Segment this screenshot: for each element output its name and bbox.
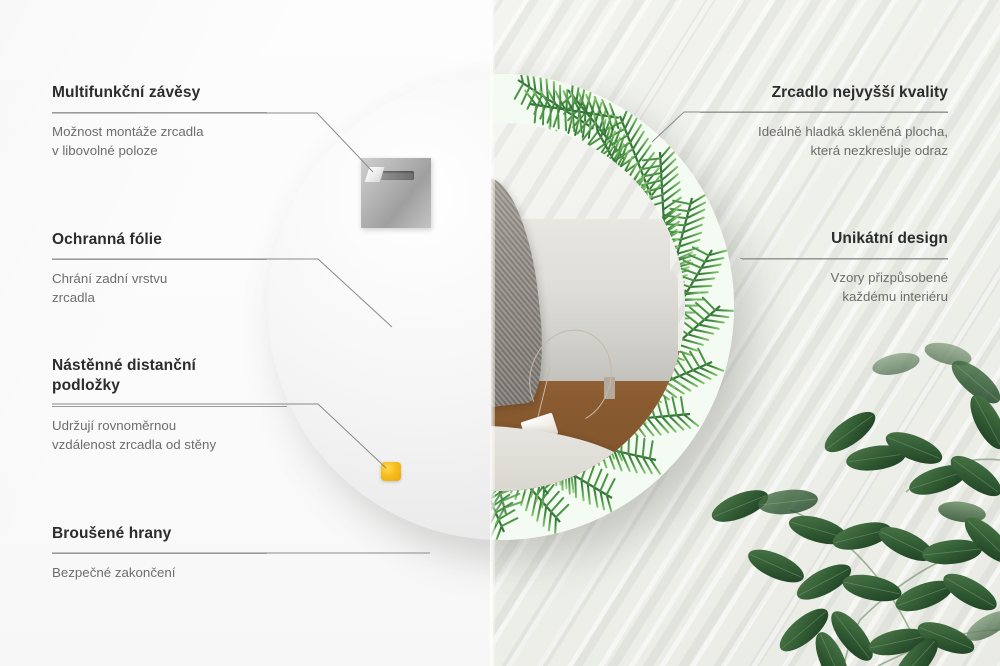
- feature-body-line-1: Udržují rovnoměrnou: [52, 417, 287, 436]
- feature-body-line-2: která nezkresluje odraz: [700, 142, 948, 161]
- hanger-keyhole-slot-icon: [371, 171, 414, 180]
- feature-title: Broušené hrany: [52, 524, 267, 544]
- infographic-canvas: Multifunkční závěsy Možnost montáže zrca…: [0, 0, 1000, 666]
- feature-body-line-2: vzdálenost zrcadla od stěny: [52, 436, 287, 455]
- feature-body-line-1: Ideálně hladká skleněná plocha,: [700, 123, 948, 142]
- product-mirror: [268, 74, 734, 540]
- feature-label-multifunkcni-zavesy: Multifunkční závěsy Možnost montáže zrca…: [52, 83, 267, 161]
- feature-body-line-2: v libovolné poloze: [52, 142, 267, 161]
- feature-title-line-2: podložky: [52, 376, 287, 396]
- feature-label-ochranna-folie: Ochranná fólie Chrání zadní vrstvu zrcad…: [52, 230, 267, 308]
- feature-rule: [700, 112, 948, 113]
- wall-distance-spacer-pad: [381, 462, 401, 481]
- feature-rule: [52, 112, 267, 113]
- feature-rule: [52, 553, 267, 554]
- feature-title-line-1: Nástěnné distanční: [52, 356, 287, 376]
- feature-title: Zrcadlo nejvyšší kvality: [700, 83, 948, 103]
- eucalyptus-foliage-icon: [700, 330, 1000, 666]
- feature-label-nastenne-distancni-podlozky: Nástěnné distanční podložky Udržují rovn…: [52, 356, 287, 455]
- feature-body-line-2: zrcadla: [52, 289, 267, 308]
- feature-label-brousene-hrany: Broušené hrany Bezpečné zakončení: [52, 524, 267, 583]
- feature-body-line-1: Možnost montáže zrcadla: [52, 123, 267, 142]
- feature-rule: [52, 406, 287, 407]
- feature-body-line-1: Chrání zadní vrstvu: [52, 270, 267, 289]
- panel-seam-divider: [490, 0, 495, 666]
- feature-title: Ochranná fólie: [52, 230, 267, 250]
- feature-title: Multifunkční závěsy: [52, 83, 267, 103]
- feature-label-unikatni-design: Unikátní design Vzory přizpůsobené každé…: [740, 229, 948, 307]
- feature-title: Unikátní design: [740, 229, 948, 249]
- mirror-hanger-plate: [361, 158, 431, 228]
- feature-body-line-1: Vzory přizpůsobené: [740, 269, 948, 288]
- feature-body-line-2: každému interiéru: [740, 288, 948, 307]
- feature-rule: [52, 259, 267, 260]
- feature-label-zrcadlo-nejvyssi-kvality: Zrcadlo nejvyšší kvality Ideálně hladká …: [700, 83, 948, 161]
- feature-body-line-1: Bezpečné zakončení: [52, 564, 267, 583]
- feature-rule: [740, 258, 948, 259]
